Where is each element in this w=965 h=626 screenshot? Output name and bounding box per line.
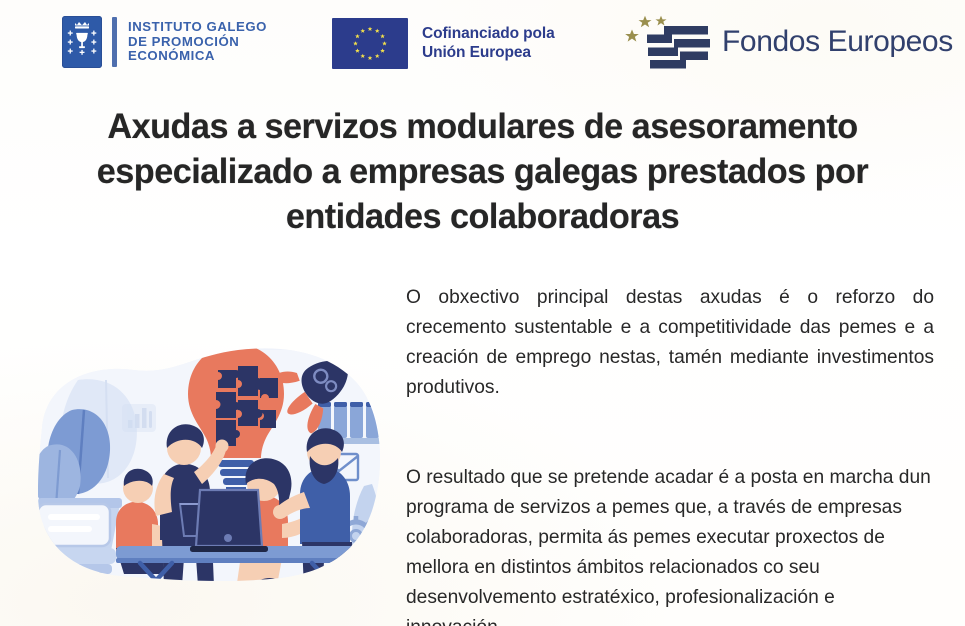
fondos-europeos-mark-icon — [620, 8, 712, 76]
header-logo-bar: INSTITUTO GALEGO DE PROMOCIÓN ECONÓMICA — [0, 0, 965, 88]
body-paragraph-1: O obxectivo principal destas axudas é o … — [406, 283, 934, 433]
logo-eu-label: Cofinanciado pola Unión Europea — [422, 25, 555, 62]
laptop — [190, 490, 268, 552]
body-paragraph-2: O resultado que se pretende acadar é a p… — [406, 463, 934, 626]
body-copy: O obxectivo principal destas axudas é o … — [406, 283, 934, 626]
xunta-de-galicia-coat-of-arms-icon — [62, 16, 102, 68]
logo-divider — [112, 17, 117, 67]
office-chair — [34, 504, 116, 592]
logo-fondos-label: Fondos Europeos — [722, 25, 953, 59]
logo-igape-label: INSTITUTO GALEGO DE PROMOCIÓN ECONÓMICA — [128, 20, 267, 64]
logo-european-union: Cofinanciado pola Unión Europea — [332, 18, 555, 69]
team-brainstorming-illustration — [12, 308, 404, 608]
eu-flag-icon — [332, 18, 408, 69]
page-title: Axudas a servizos modulares de asesorame… — [50, 104, 916, 239]
logo-fondos-europeos: Fondos Europeos — [620, 8, 953, 76]
logo-igape: INSTITUTO GALEGO DE PROMOCIÓN ECONÓMICA — [62, 16, 267, 68]
